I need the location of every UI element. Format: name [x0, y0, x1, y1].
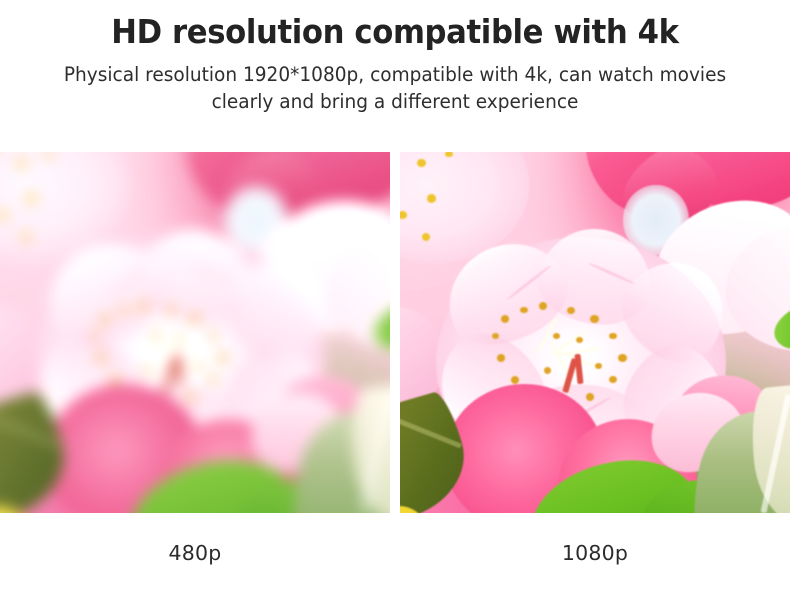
blossom-scene-low-res: [0, 152, 390, 513]
caption-cell-480p: 480p: [0, 513, 390, 598]
stamen-anther: [190, 315, 198, 323]
stamen-anther: [195, 363, 202, 369]
stamen-dot: [422, 233, 430, 241]
product-feature-panel: HD resolution compatible with 4k Physica…: [0, 0, 790, 598]
page-title: HD resolution compatible with 4k: [28, 12, 763, 52]
stamen-dot: [417, 159, 425, 167]
photo-480p: [0, 152, 390, 513]
stamen-anther: [153, 333, 160, 339]
stamen-anther: [97, 354, 105, 361]
stamen-anther: [492, 333, 499, 339]
stamen-anther: [511, 376, 519, 384]
stamen-anther: [586, 393, 594, 401]
stamen-anther: [590, 315, 598, 323]
stamen-anther: [92, 333, 99, 339]
stamen-anther: [520, 307, 527, 314]
stamen-dot: [22, 233, 30, 241]
stamen-dot: [17, 159, 25, 167]
caption-1080p: 1080p: [562, 541, 628, 565]
stamen-anther: [101, 315, 109, 322]
stamen-anther: [209, 376, 216, 383]
stamen-anther: [120, 307, 127, 314]
photo-1080p: [400, 152, 790, 513]
stamen-anther: [567, 307, 575, 314]
stamen-anther: [218, 354, 226, 362]
blossom-scene-high-res: [400, 152, 790, 513]
stamen-anther: [618, 354, 626, 362]
stamen-anther: [186, 393, 194, 401]
stamen-anther: [609, 333, 616, 340]
stamen-anther: [144, 367, 151, 373]
comparison-gallery: [0, 152, 790, 513]
stamen-anther: [167, 307, 175, 314]
stamen-anther: [501, 315, 509, 322]
stamen-anther: [553, 333, 560, 339]
caption-cell-1080p: 1080p: [400, 513, 790, 598]
stamen-anther: [111, 376, 119, 384]
caption-480p: 480p: [169, 541, 222, 565]
stamen-anther: [544, 367, 551, 373]
stamen-anther: [209, 333, 216, 340]
stamen-dot: [27, 194, 36, 203]
stamen-anther: [609, 376, 616, 383]
header: HD resolution compatible with 4k Physica…: [0, 0, 790, 116]
stamen-anther: [595, 363, 602, 369]
caption-row: 480p 1080p: [0, 513, 790, 598]
page-subtitle: Physical resolution 1920*1080p, compatib…: [48, 61, 742, 116]
stamen-anther: [497, 354, 505, 361]
stamen-dot: [427, 194, 436, 203]
